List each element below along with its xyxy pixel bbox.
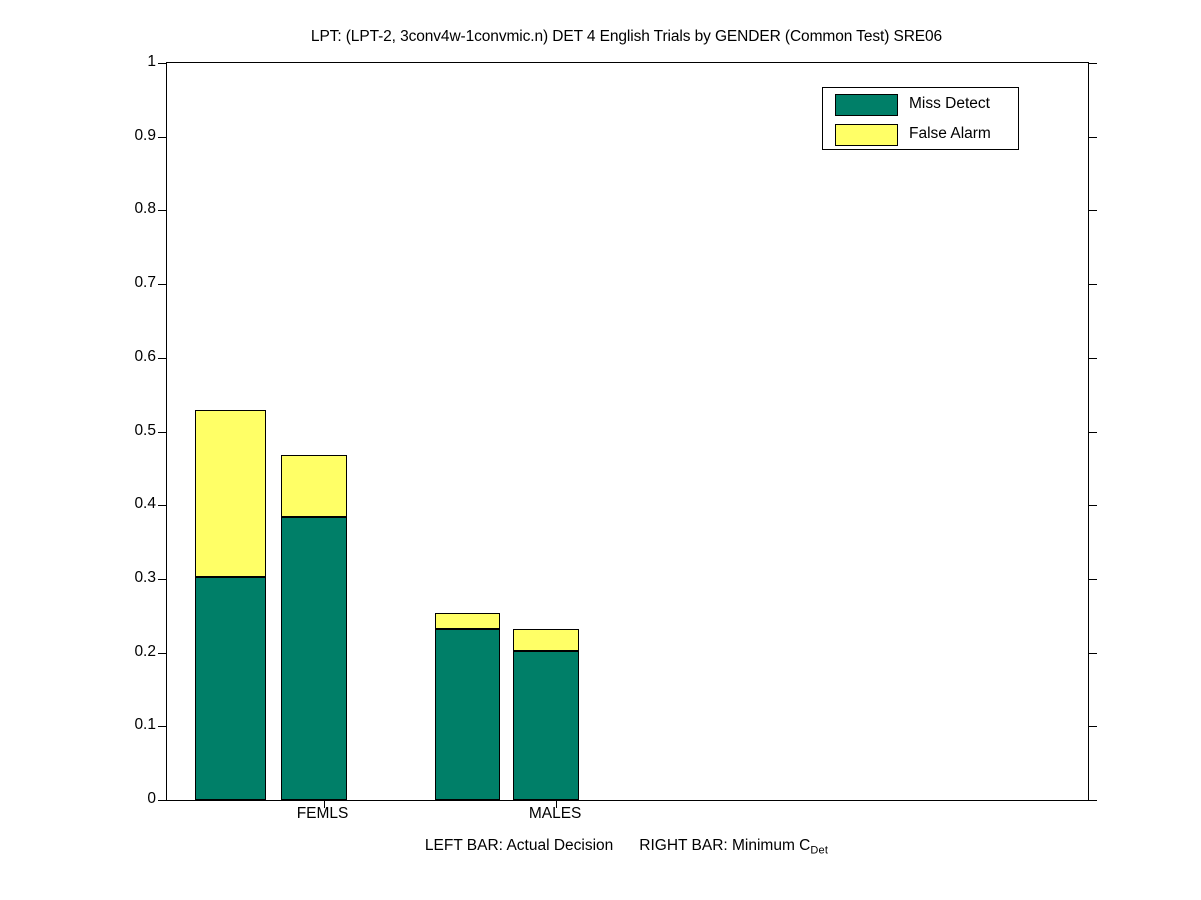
y-axis-tick-label: 0.1: [96, 717, 156, 733]
x-axis-tick-label: FEMLS: [297, 806, 349, 822]
chart-caption: LEFT BAR: Actual DecisionRIGHT BAR: Mini…: [166, 836, 1087, 861]
y-axis-tick-label: 0.9: [96, 128, 156, 144]
y-axis-tick-labels: 00.10.20.30.40.50.60.70.80.91: [0, 62, 1201, 799]
legend-label-miss-detect: Miss Detect: [909, 93, 990, 115]
legend-entry-miss-detect: Miss Detect: [823, 90, 1018, 119]
y-axis-tick: [158, 800, 167, 801]
y-axis-tick-right: [1088, 800, 1097, 801]
y-axis-tick-label: 0: [96, 791, 156, 807]
y-axis-tick-label: 0.5: [96, 423, 156, 439]
y-axis-tick-label: 0.7: [96, 275, 156, 291]
y-axis-tick-label: 0.3: [96, 570, 156, 586]
x-axis-tick-label: MALES: [529, 806, 582, 822]
page-title: LPT: (LPT-2, 3conv4w-1convmic.n) DET 4 E…: [166, 28, 1087, 46]
legend-label-false-alarm: False Alarm: [909, 123, 991, 145]
caption-right-bar: RIGHT BAR: Minimum C: [639, 837, 810, 854]
y-axis-tick-label: 1: [96, 54, 156, 70]
caption-left-bar: LEFT BAR: Actual Decision: [425, 837, 613, 854]
legend-swatch-false-alarm: [835, 124, 898, 146]
legend-entry-false-alarm: False Alarm: [823, 120, 1018, 149]
y-axis-tick-label: 0.8: [96, 201, 156, 217]
figure-canvas: LPT: (LPT-2, 3conv4w-1convmic.n) DET 4 E…: [0, 0, 1201, 900]
legend: Miss Detect False Alarm: [822, 87, 1019, 150]
x-axis-tick-labels: FEMLSMALES: [0, 806, 1201, 830]
legend-swatch-miss-detect: [835, 94, 898, 116]
caption-subscript-det: Det: [810, 845, 828, 857]
y-axis-tick-label: 0.4: [96, 496, 156, 512]
y-axis-tick-label: 0.6: [96, 349, 156, 365]
y-axis-tick-label: 0.2: [96, 644, 156, 660]
